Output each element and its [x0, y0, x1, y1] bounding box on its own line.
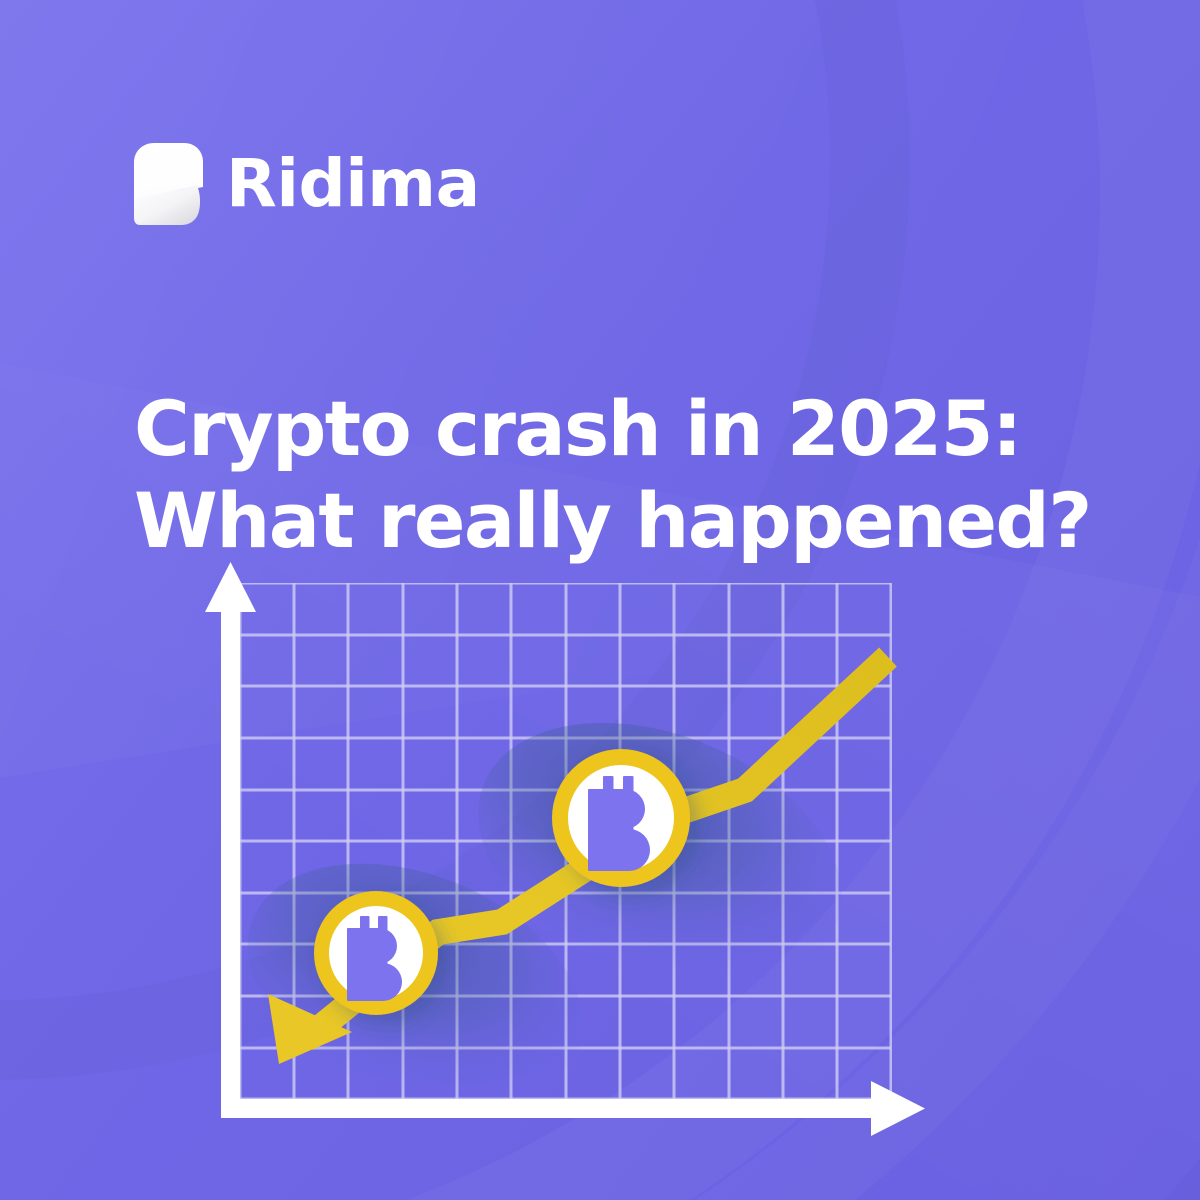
crypto-trend-chart — [0, 0, 1200, 1200]
up-arrow-axis-icon — [205, 562, 256, 612]
y-axis-line — [221, 612, 240, 1099]
bitcoin-coin-upper — [552, 749, 690, 887]
right-arrow-axis-icon — [871, 1081, 925, 1136]
bitcoin-coin-lower — [314, 891, 438, 1015]
x-axis-line — [221, 1099, 871, 1118]
poster-canvas: Ridima Crypto crash in 2025: What really… — [0, 0, 1200, 1200]
